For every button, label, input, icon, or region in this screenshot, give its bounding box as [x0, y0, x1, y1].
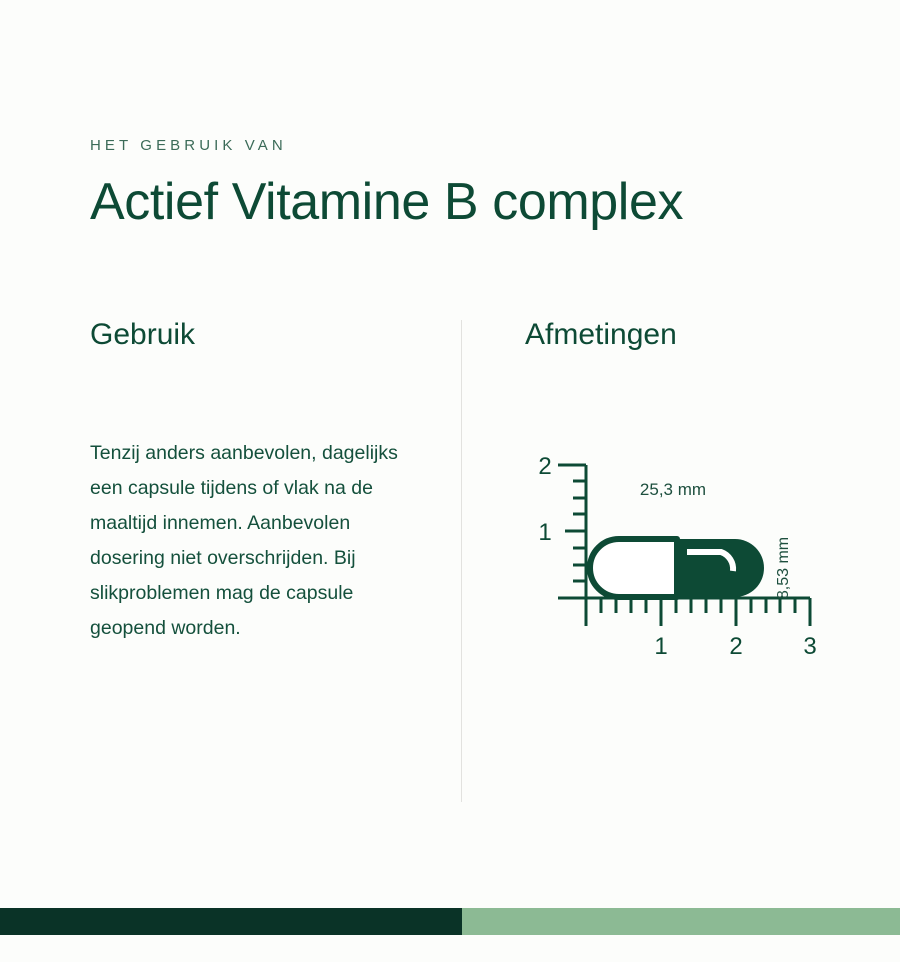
- eyebrow-text: HET GEBRUIK VAN: [90, 138, 880, 153]
- page-title: Actief Vitamine B complex: [90, 175, 880, 230]
- content-columns: Gebruik Tenzij anders aanbevolen, dageli…: [0, 318, 900, 808]
- usage-text: Tenzij anders aanbevolen, dagelijks een …: [90, 436, 410, 646]
- vertical-ruler: [558, 465, 586, 598]
- footer-bar-dark: [0, 908, 462, 935]
- capsule-width-label: 8,53 mm: [775, 537, 792, 599]
- capsule-body-clear: [590, 539, 677, 597]
- dimensions-column: Afmetingen: [525, 318, 865, 351]
- capsule-length-label: 25,3 mm: [640, 480, 706, 499]
- x-axis-tick-2: 2: [729, 633, 742, 658]
- capsule-dimension-diagram: 2 1: [525, 438, 865, 658]
- x-axis-tick-1: 1: [654, 633, 667, 658]
- horizontal-ruler: [558, 598, 810, 626]
- capsule-illustration: [590, 539, 764, 597]
- y-axis-tick-1: 1: [538, 519, 551, 546]
- footer-bar-sage: [462, 908, 900, 935]
- page-root: HET GEBRUIK VAN Actief Vitamine B comple…: [0, 0, 900, 962]
- usage-column: Gebruik Tenzij anders aanbevolen, dageli…: [90, 318, 430, 351]
- column-divider: [461, 320, 462, 802]
- dimensions-heading: Afmetingen: [525, 318, 865, 351]
- usage-heading: Gebruik: [90, 318, 430, 351]
- x-axis-tick-3: 3: [803, 633, 816, 658]
- y-axis-tick-2: 2: [538, 453, 551, 480]
- capsule-cap-filled: [677, 539, 764, 597]
- page-header: HET GEBRUIK VAN Actief Vitamine B comple…: [90, 138, 880, 230]
